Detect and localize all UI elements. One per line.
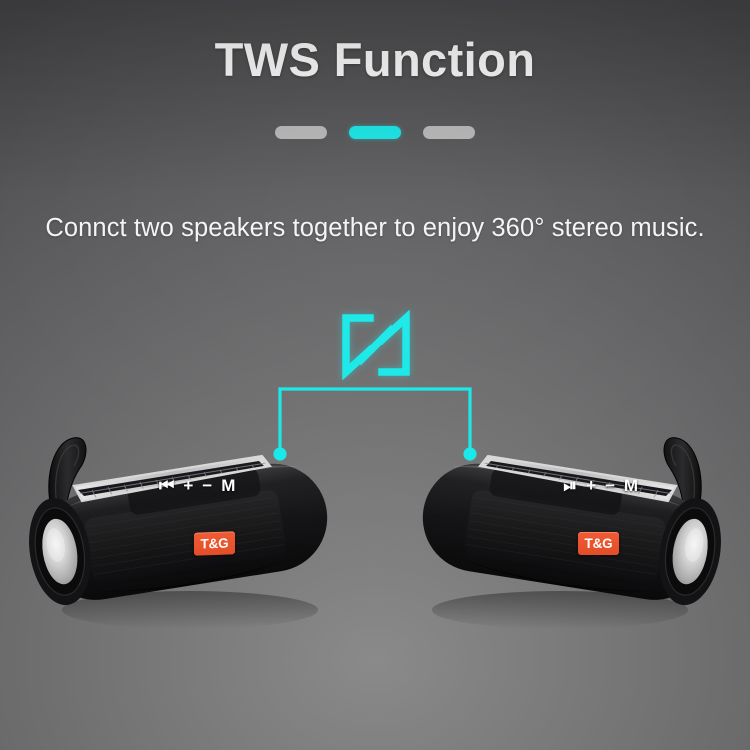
page-title: TWS Function (0, 32, 750, 87)
volume-up-button[interactable]: + (183, 477, 193, 494)
previous-track-button[interactable]: ⏮ (159, 477, 174, 494)
mode-button[interactable]: M (221, 477, 235, 494)
product-feature-banner: TWS Function Connct two speakers togethe… (0, 0, 750, 750)
brand-badge-right: T&G (578, 532, 619, 555)
page-subtitle: Connct two speakers together to enjoy 36… (0, 214, 750, 243)
control-button-row-right[interactable]: M − + ⏯ (563, 477, 638, 494)
dash-left (275, 126, 327, 139)
speaker-left[interactable]: ⏮ + − M T&G (18, 420, 348, 635)
nfc-n-mark-icon (339, 310, 413, 380)
volume-down-button[interactable]: − (605, 477, 615, 494)
speaker-right[interactable]: M − + ⏯ T&G (402, 420, 732, 635)
dash-right (423, 126, 475, 139)
control-button-row-left[interactable]: ⏮ + − M (159, 477, 235, 494)
brand-badge-left: T&G (194, 531, 235, 555)
play-pause-button[interactable]: ⏯ (563, 477, 577, 494)
dash-center (349, 126, 401, 139)
volume-up-button[interactable]: + (586, 477, 596, 494)
mode-button[interactable]: M (624, 477, 638, 494)
decorative-dash-group (0, 126, 750, 139)
volume-down-button[interactable]: − (202, 477, 212, 494)
